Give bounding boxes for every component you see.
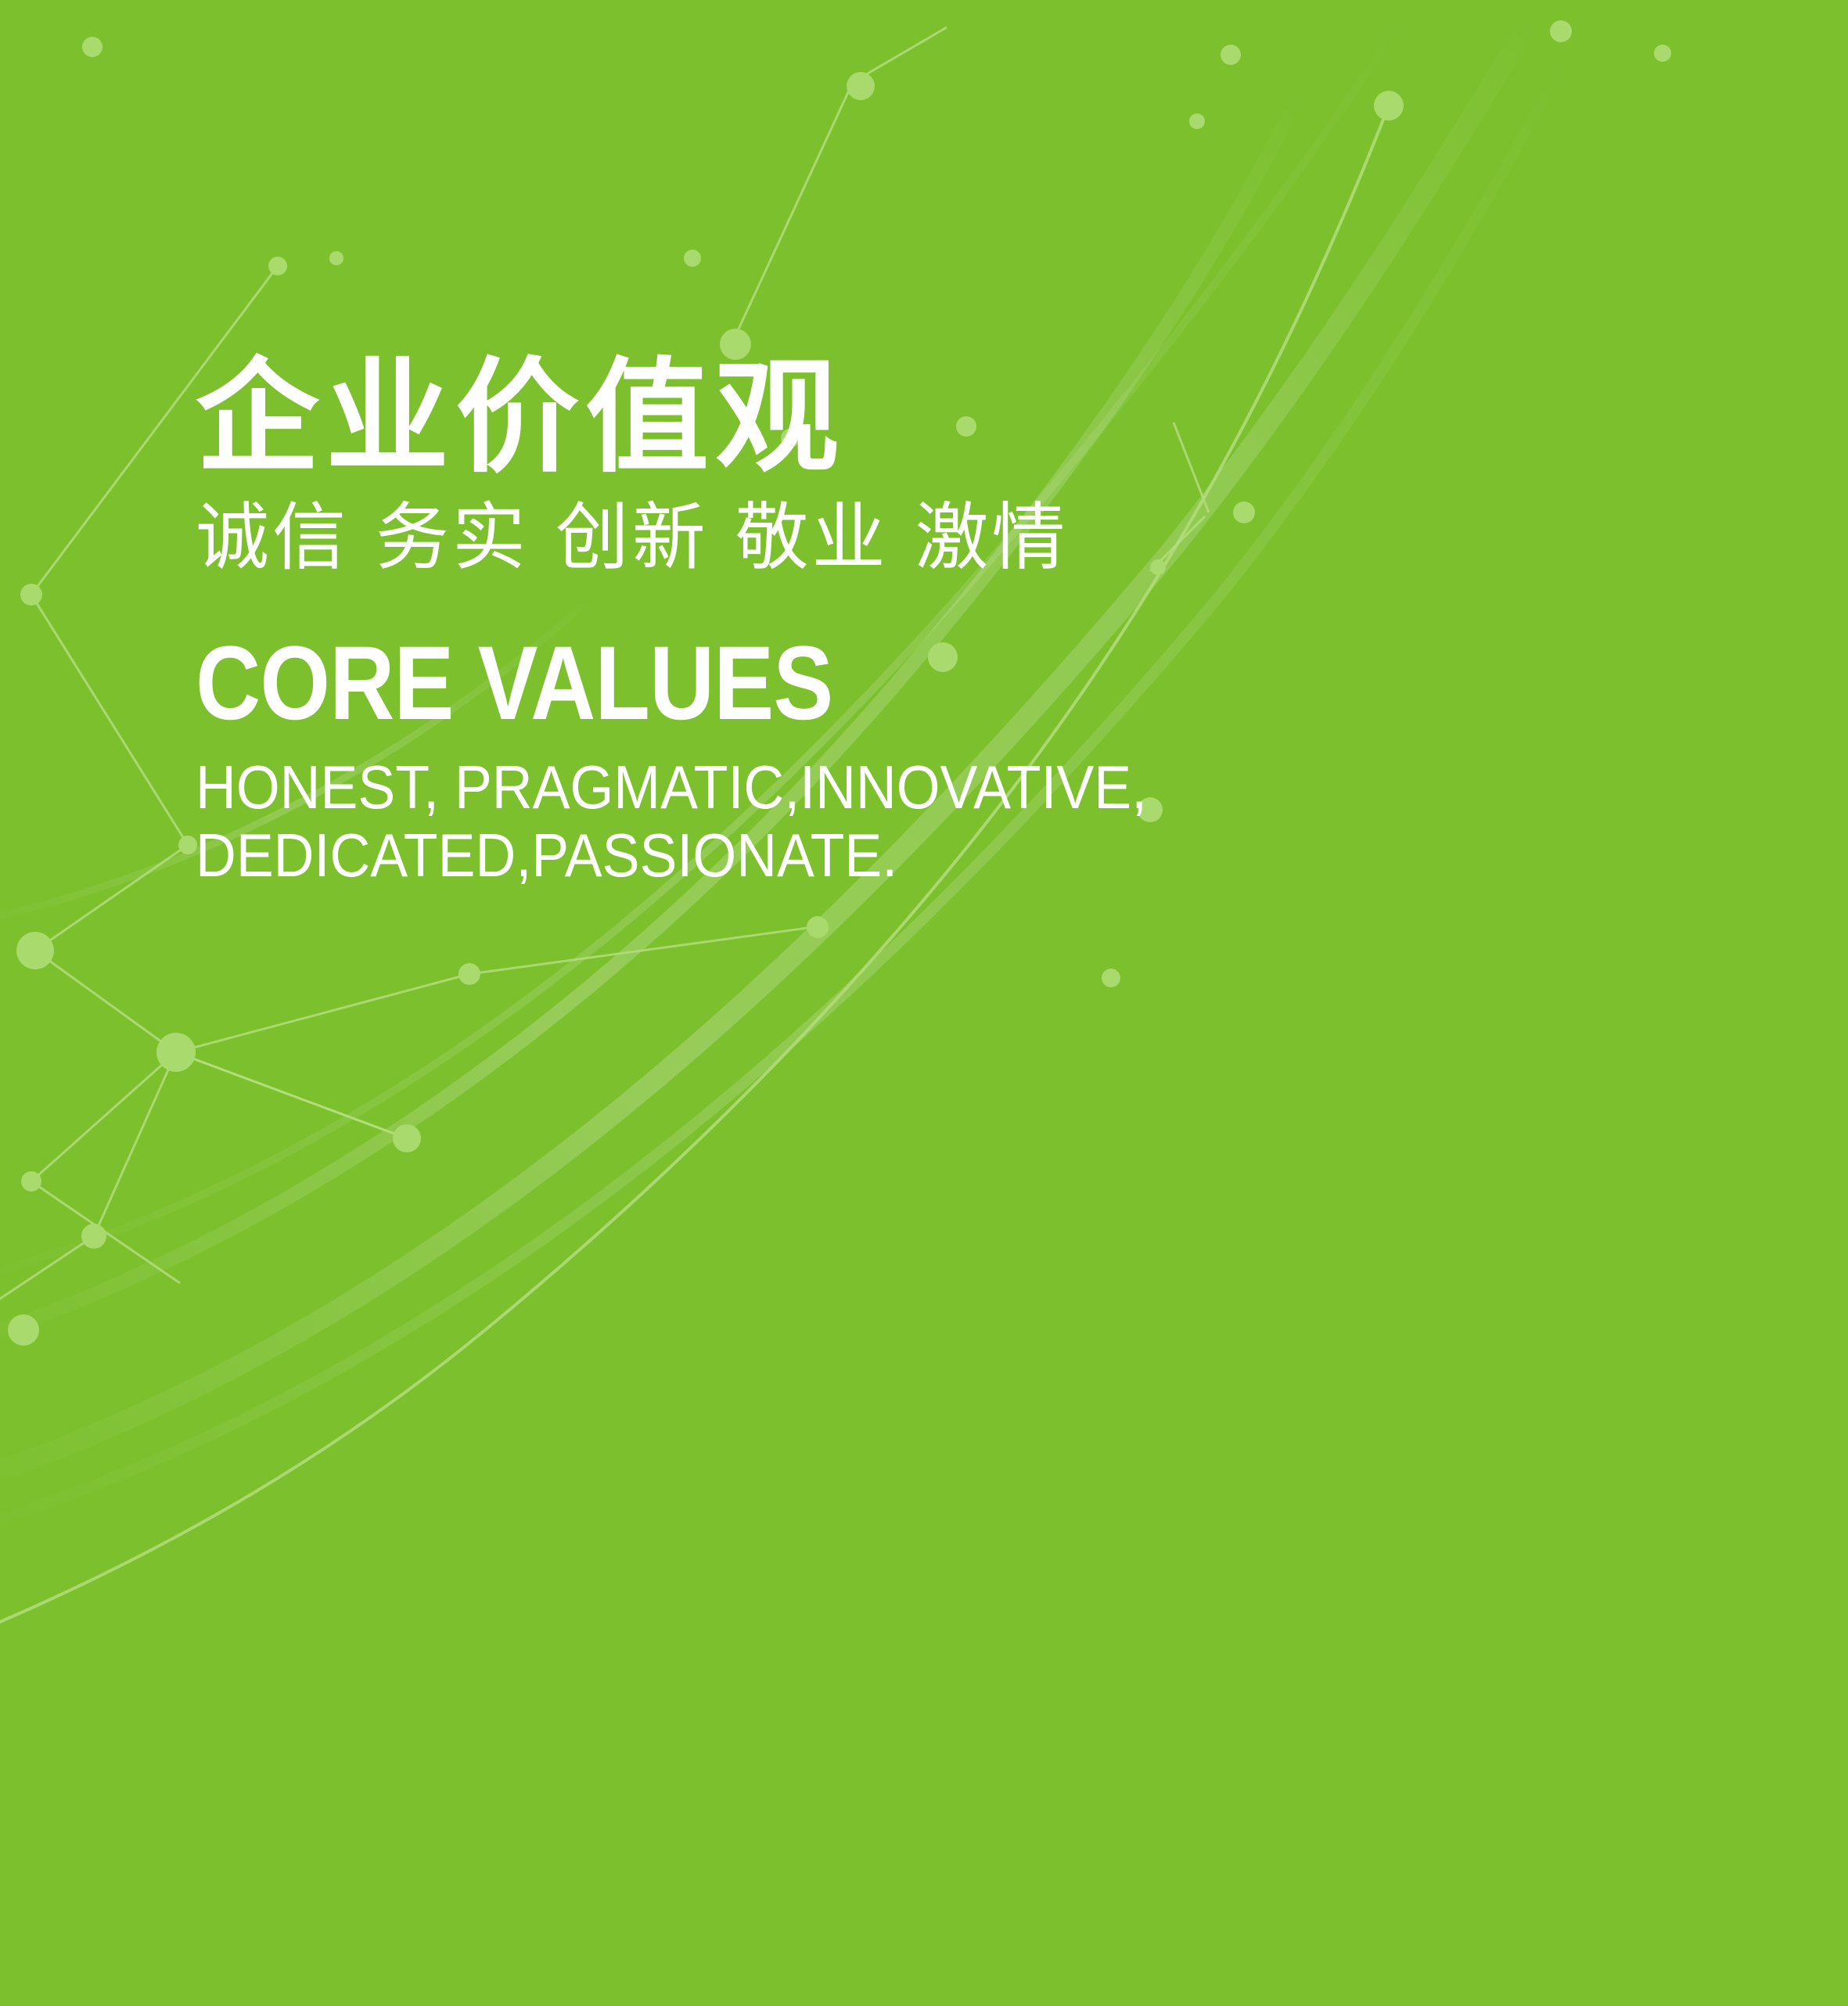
network-node xyxy=(684,250,701,267)
page-title-en: CORE VALUES xyxy=(196,631,1407,736)
network-node xyxy=(82,37,102,57)
network-node xyxy=(1550,20,1572,42)
network-node xyxy=(1102,969,1120,987)
network-node xyxy=(21,1171,41,1192)
network-node xyxy=(8,1314,39,1346)
decorative-swoosh-curves xyxy=(0,0,1848,2006)
value-words-en: HONEST, PRAGMATIC,INNOVATIVE, DEDICATED,… xyxy=(196,753,1095,890)
page-title-cn: 企业价值观 xyxy=(196,356,1604,480)
text-block: 企业价值观 诚信 务实 创新 敬业 激情 CORE VALUES HONEST,… xyxy=(196,356,1604,890)
network-node xyxy=(16,932,54,969)
network-node xyxy=(178,836,197,854)
network-node xyxy=(81,1224,106,1249)
network-node xyxy=(268,257,287,275)
network-node xyxy=(458,963,480,985)
network-node xyxy=(807,916,829,938)
value-words-en-line-2: DEDICATED,PASSIONATE. xyxy=(196,821,1095,890)
network-node xyxy=(1221,45,1241,65)
value-words-en-line-1: HONEST, PRAGMATIC,INNOVATIVE, xyxy=(196,753,1095,821)
network-node xyxy=(1374,91,1404,120)
decorative-network-plexus xyxy=(0,0,1848,2006)
network-node xyxy=(1189,113,1205,129)
network-node xyxy=(20,584,42,606)
network-node xyxy=(156,1033,196,1072)
network-node xyxy=(847,72,875,100)
network-node xyxy=(329,251,343,265)
core-values-banner: 企业价值观 诚信 务实 创新 敬业 激情 CORE VALUES HONEST,… xyxy=(0,0,1848,2006)
value-words-cn: 诚信 务实 创新 敬业 激情 xyxy=(196,501,1604,575)
network-node xyxy=(393,1124,421,1152)
network-node xyxy=(1654,45,1671,62)
